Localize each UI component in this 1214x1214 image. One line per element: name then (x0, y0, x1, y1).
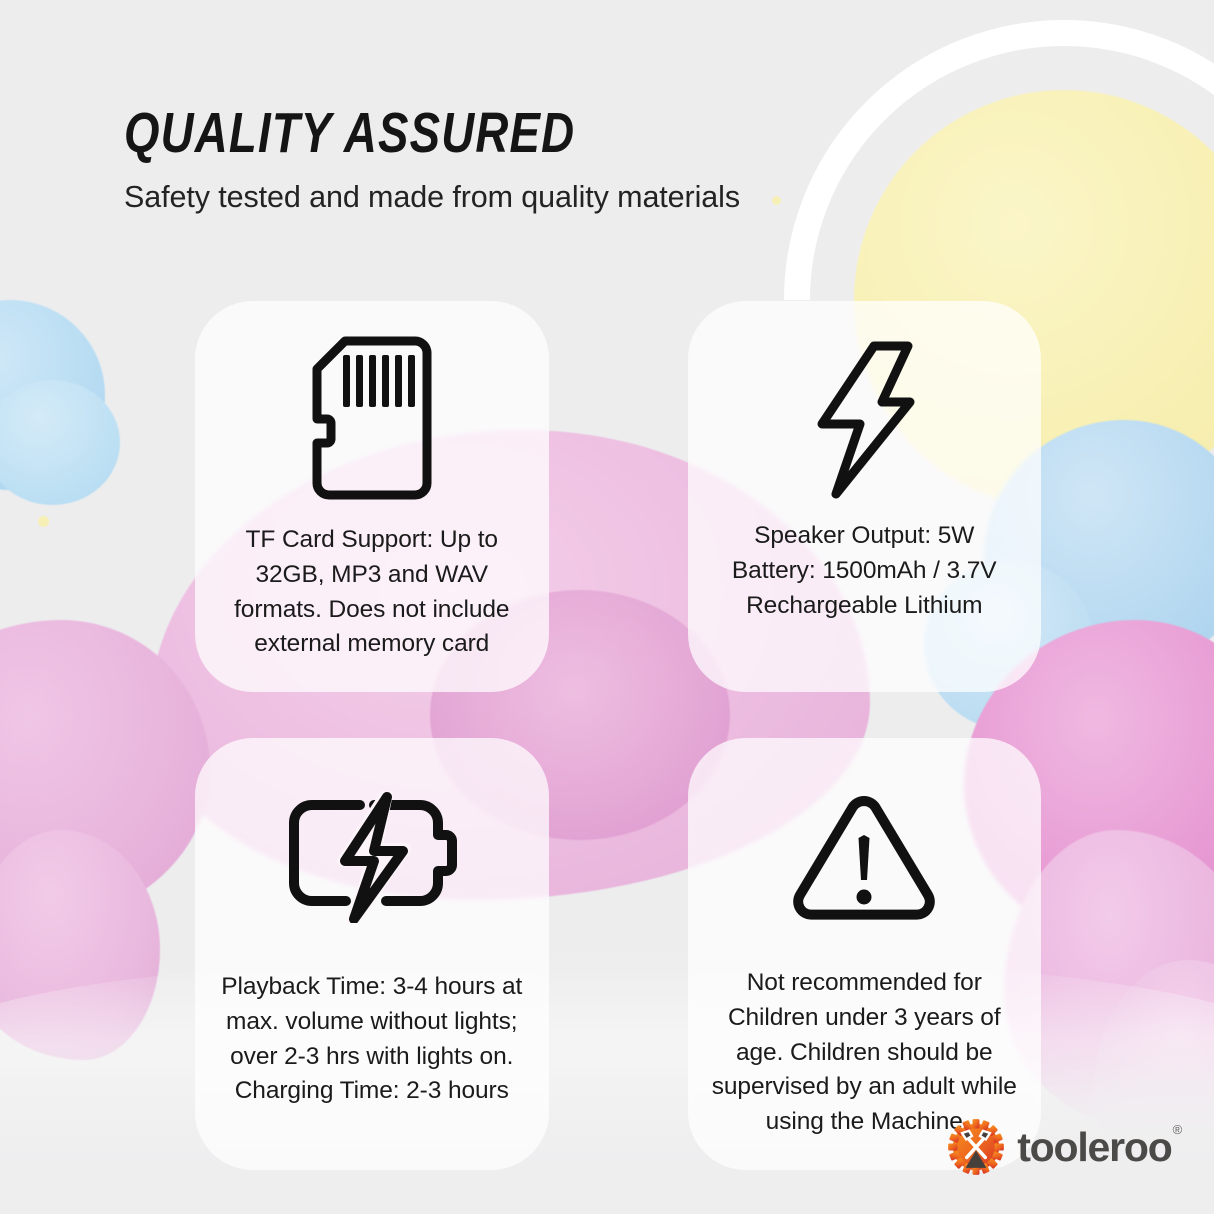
feature-card-row-top: TF Card Support: Up to 32GB, MP3 and WAV… (195, 301, 1041, 692)
registered-trademark-symbol: ® (1173, 1122, 1181, 1137)
feature-card-age-warning: Not recommended for Children under 3 yea… (688, 738, 1042, 1170)
feature-card-row-bottom: Playback Time: 3-4 hours at max. volume … (195, 738, 1041, 1170)
content-layer: QUALITY ASSURED Safety tested and made f… (0, 0, 1214, 1214)
page-title: QUALITY ASSURED (124, 104, 617, 164)
brand-logo: tooleroo® (947, 1118, 1180, 1176)
warning-triangle-icon (789, 772, 939, 942)
tooleroo-gear-icon (947, 1118, 1005, 1176)
feature-card-speaker-battery: Speaker Output: 5W Battery: 1500mAh / 3.… (688, 301, 1042, 692)
feature-card-text: TF Card Support: Up to 32GB, MP3 and WAV… (213, 523, 531, 662)
infographic-canvas: QUALITY ASSURED Safety tested and made f… (0, 0, 1214, 1214)
header: QUALITY ASSURED Safety tested and made f… (124, 104, 740, 215)
lightning-bolt-icon (812, 335, 916, 505)
page-subtitle: Safety tested and made from quality mate… (124, 180, 740, 215)
feature-card-playback-time: Playback Time: 3-4 hours at max. volume … (195, 738, 549, 1170)
wordmark-text: tooleroo (1017, 1124, 1171, 1170)
feature-card-text: Speaker Output: 5W Battery: 1500mAh / 3.… (706, 519, 1024, 623)
tooleroo-wordmark: tooleroo® (1017, 1127, 1180, 1168)
feature-card-grid: TF Card Support: Up to 32GB, MP3 and WAV… (195, 301, 1041, 1170)
feature-card-text: Not recommended for Children under 3 yea… (706, 966, 1024, 1140)
feature-card-text: Playback Time: 3-4 hours at max. volume … (213, 970, 531, 1109)
battery-charging-icon (286, 772, 458, 942)
feature-card-tf-card: TF Card Support: Up to 32GB, MP3 and WAV… (195, 301, 549, 692)
microsd-card-icon (311, 335, 433, 505)
